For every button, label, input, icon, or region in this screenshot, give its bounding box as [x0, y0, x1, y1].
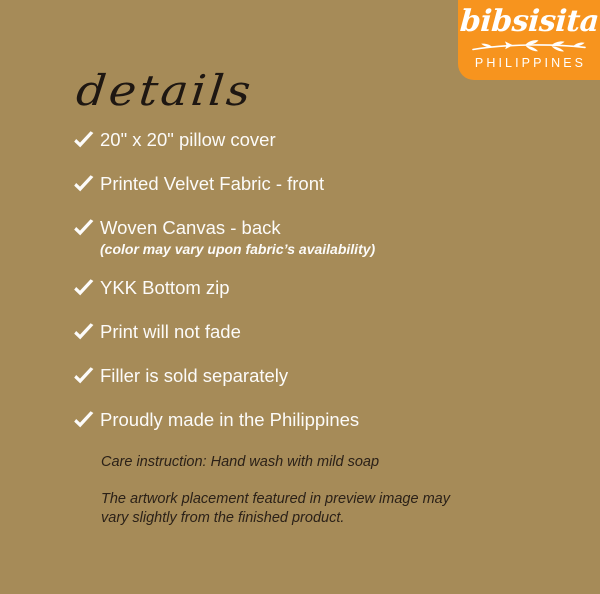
- list-item-text: Print will not fade: [96, 320, 532, 343]
- list-item-label: Printed Velvet Fabric - front: [100, 172, 532, 195]
- list-item-label: Woven Canvas - back: [100, 216, 532, 239]
- check-icon: [72, 366, 96, 388]
- list-item-label: 20" x 20" pillow cover: [100, 128, 532, 151]
- list-item-text: YKK Bottom zip: [96, 276, 532, 299]
- footer-notes: Care instruction: Hand wash with mild so…: [101, 452, 501, 528]
- artwork-disclaimer-note: The artwork placement featured in previe…: [101, 490, 477, 528]
- check-icon: [72, 278, 96, 300]
- care-instruction-note: Care instruction: Hand wash with mild so…: [101, 452, 501, 472]
- list-item-text: Woven Canvas - back (color may vary upon…: [96, 216, 532, 259]
- list-item-label: Print will not fade: [100, 320, 532, 343]
- check-icon: [72, 174, 96, 196]
- list-item-text: Filler is sold separately: [96, 364, 532, 387]
- list-item: Woven Canvas - back (color may vary upon…: [72, 216, 532, 259]
- list-item: Filler is sold separately: [72, 364, 532, 388]
- list-item-text: Printed Velvet Fabric - front: [96, 172, 532, 195]
- list-item-note: (color may vary upon fabric’s availabili…: [100, 240, 532, 259]
- list-item-label: Filler is sold separately: [100, 364, 532, 387]
- check-icon: [72, 410, 96, 432]
- check-icon: [72, 218, 96, 240]
- list-item-text: Proudly made in the Philippines: [96, 408, 532, 431]
- list-item-label: YKK Bottom zip: [100, 276, 532, 299]
- list-item: YKK Bottom zip: [72, 276, 532, 300]
- list-item: Proudly made in the Philippines: [72, 408, 532, 432]
- list-item-label: Proudly made in the Philippines: [100, 408, 532, 431]
- brand-wordmark: bibsisita: [458, 4, 599, 40]
- leaf-branch-icon: [469, 39, 589, 55]
- check-icon: [72, 322, 96, 344]
- details-feature-list: 20" x 20" pillow cover Printed Velvet Fa…: [72, 128, 532, 452]
- brand-logo-badge: bibsisita PHILIPPINES: [458, 0, 600, 80]
- check-icon: [72, 130, 96, 152]
- list-item: Print will not fade: [72, 320, 532, 344]
- list-item: Printed Velvet Fabric - front: [72, 172, 532, 196]
- list-item: 20" x 20" pillow cover: [72, 128, 532, 152]
- brand-country-label: PHILIPPINES: [472, 55, 586, 71]
- list-item-text: 20" x 20" pillow cover: [96, 128, 532, 151]
- page-title: details: [74, 64, 256, 116]
